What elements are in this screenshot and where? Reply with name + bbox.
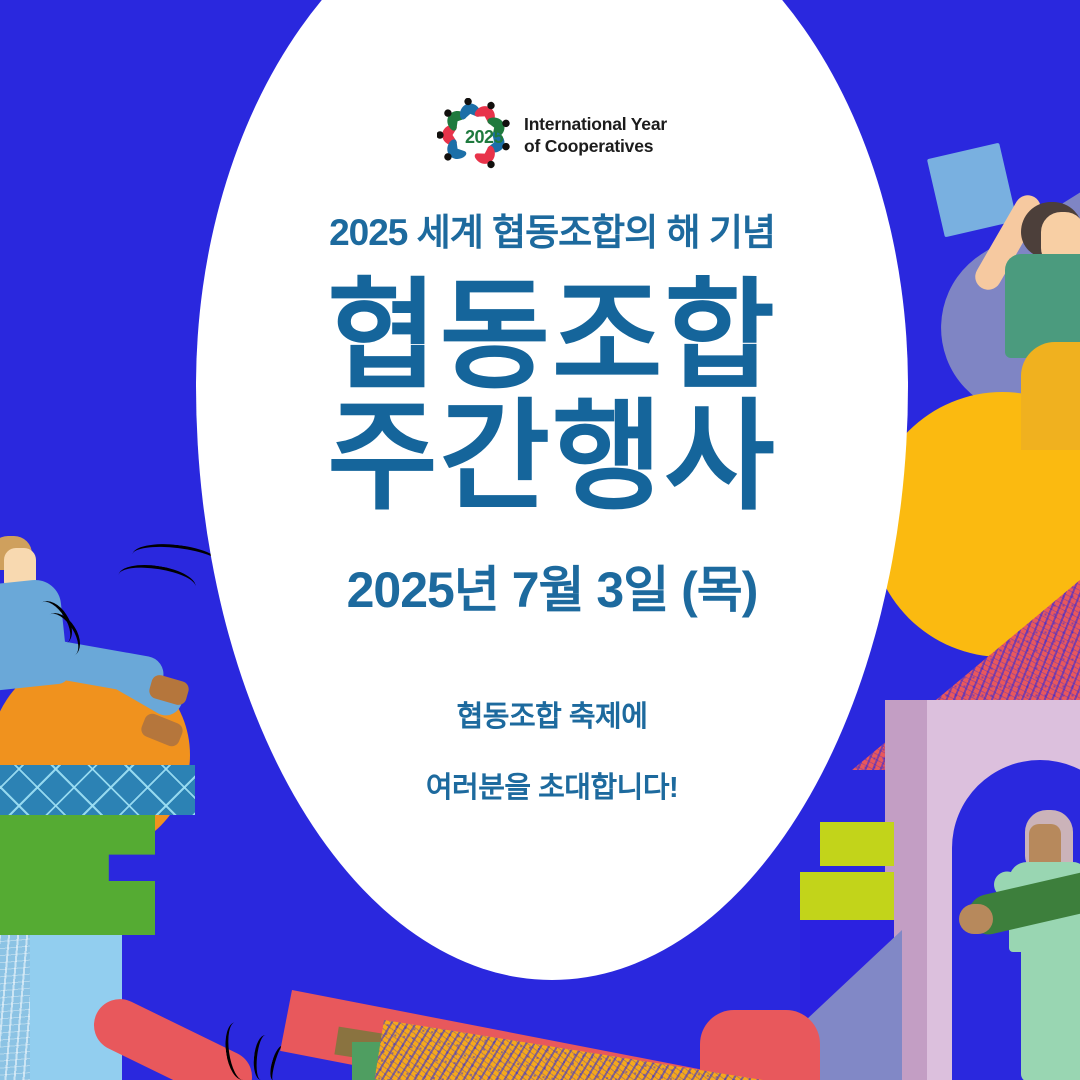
person-hand <box>959 904 993 934</box>
poster-canvas: 2025 International Year of Cooperatives … <box>0 0 1080 1080</box>
poster-subtitle: 2025 세계 협동조합의 해 기념 <box>329 214 775 251</box>
person-yellow-pants <box>1021 342 1080 450</box>
logo-wordmark: International Year of Cooperatives <box>524 113 667 157</box>
iyc-2025-cooperatives-logo-icon: 2025 <box>437 98 511 172</box>
poster-content: 2025 International Year of Cooperatives … <box>196 0 908 1080</box>
logo-lockup: 2025 International Year of Cooperatives <box>437 98 667 172</box>
logo-year-label: 2025 <box>465 128 503 146</box>
logo-wordmark-line-2: of Cooperatives <box>524 135 667 157</box>
logo-wordmark-line-1: International Year <box>524 113 667 135</box>
event-date: 2025년 7월 3일 (목) <box>347 565 758 615</box>
poster-title-line-1: 협동조합 <box>327 273 777 400</box>
poster-title-line-2: 주간행사 <box>327 394 777 521</box>
teal-x-pattern-band <box>0 765 195 815</box>
person-holding-blue-flag <box>955 150 1080 420</box>
invitation-line-1: 협동조합 축제에 <box>457 703 648 732</box>
light-blue-texture-strip <box>0 935 30 1080</box>
green-block-shape <box>0 815 155 935</box>
invitation-line-2: 여러분을 초대합니다! <box>426 774 678 803</box>
person-carrying-green-log <box>985 810 1080 1080</box>
person-mint-pants <box>1021 942 1080 1080</box>
